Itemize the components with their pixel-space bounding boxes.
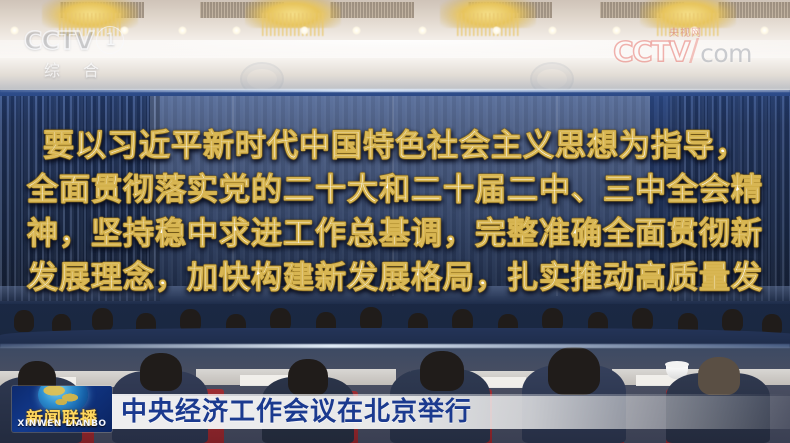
ceiling-light — [178, 26, 187, 35]
cctv-com-brand: CCTV — [613, 38, 689, 66]
cctv-wordmark: CCTV — [24, 28, 93, 53]
program-logo: 新闻联播 XINWEN LIANBO — [12, 386, 112, 432]
audience-upper-rows — [0, 296, 790, 346]
chandelier-icon — [245, 0, 341, 28]
cctv-com-watermark: 央视网 CCTV / com — [613, 32, 752, 66]
subtitle-line-4: 发展理念，加快构建新发展格局，扎实推动高质量发 — [0, 256, 790, 300]
channel-number: 1 — [96, 26, 124, 54]
chandelier-icon — [440, 0, 536, 28]
cctv1-logo-row: CCTV 1 — [24, 26, 136, 54]
ceiling-light — [300, 26, 309, 35]
subtitle-line-2: 全面贯彻落实党的二十大和二十届二中、三中全会精 — [0, 168, 790, 212]
ceiling-light — [760, 26, 769, 35]
news-ticker: 中央经济工作会议在北京举行 新闻联播 XINWEN LIANBO — [0, 380, 790, 443]
ceiling-light — [548, 26, 557, 35]
chandelier-icon — [42, 0, 138, 28]
subtitle-line-3: 神，坚持稳中求进工作总基调，完整准确全面贯彻新 — [0, 212, 790, 256]
program-logo-pinyin: XINWEN LIANBO — [12, 419, 112, 429]
cctv-com-slash: / — [689, 36, 699, 66]
ceiling-panel — [330, 2, 414, 18]
cctv-com-chinese: 央视网 — [669, 24, 702, 39]
stage-backdrop-bottom-edge — [0, 344, 790, 348]
cctv-com-suffix: com — [700, 41, 752, 66]
stage-backdrop-top-edge — [0, 89, 790, 92]
subtitle-block: 要以习近平新时代中国特色社会主义思想为指导， 全面贯彻落实党的二十大和二十届二中… — [0, 124, 790, 300]
broadcast-screenshot: CCTV 1 综 合 央视网 CCTV / com 要以习近平新时代中国特色社会… — [0, 0, 790, 443]
ceiling-light — [352, 26, 361, 35]
cctv1-channel-logo: CCTV 1 综 合 — [24, 26, 136, 78]
subtitle-line-1: 要以习近平新时代中国特色社会主义思想为指导， — [0, 124, 790, 168]
channel-subtitle: 综 合 — [24, 57, 128, 81]
ceiling-light — [10, 26, 19, 35]
ticker-headline: 中央经济工作会议在北京举行 — [121, 397, 472, 427]
ceiling-light — [492, 26, 501, 35]
ceiling-light — [232, 26, 241, 35]
ceiling-light — [418, 26, 427, 35]
